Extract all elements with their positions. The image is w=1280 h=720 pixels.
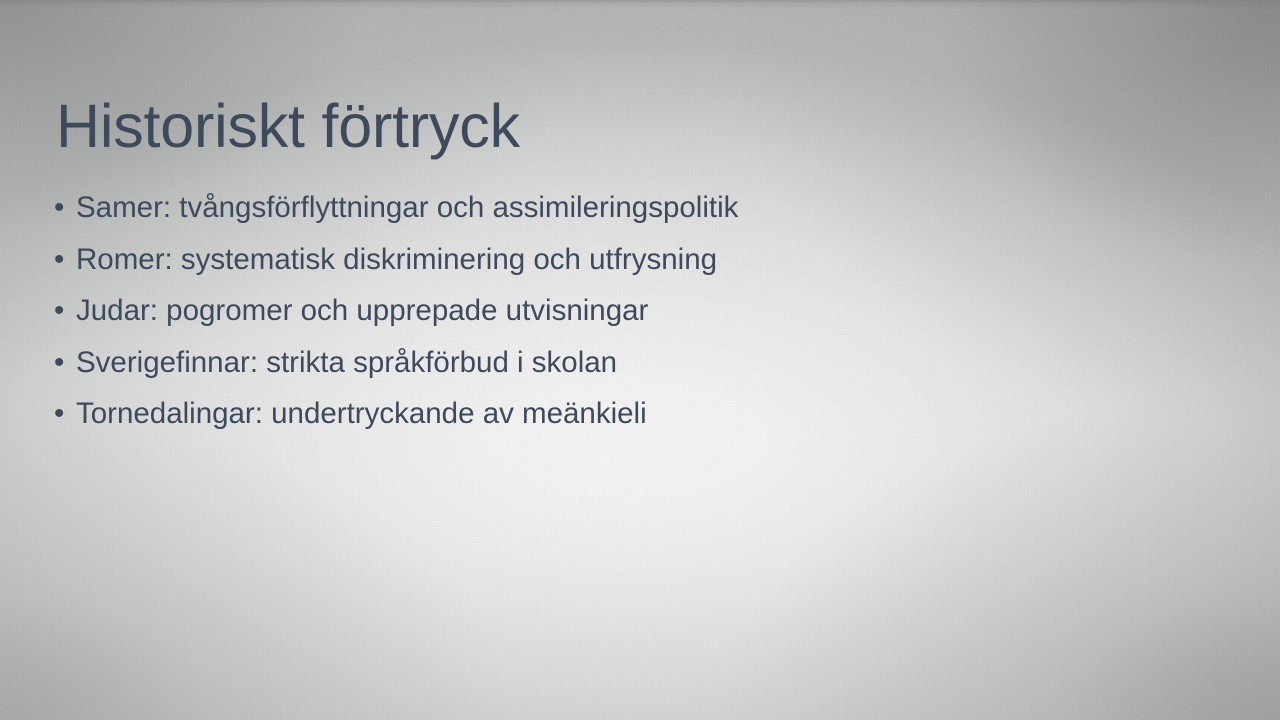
slide-content: Historiskt förtryck • Samer: tvångsförfl… (0, 0, 1280, 720)
presentation-slide: Historiskt förtryck • Samer: tvångsförfl… (0, 0, 1280, 720)
slide-title: Historiskt förtryck (56, 93, 520, 160)
list-item: • Sverigefinnar: strikta språkförbud i s… (54, 343, 738, 395)
bullet-point-icon: • (54, 188, 76, 227)
list-item: • Romer: systematisk diskriminering och … (54, 240, 738, 292)
list-item-label: Judar: pogromer och upprepade utvisninga… (76, 291, 648, 330)
list-item-label: Romer: systematisk diskriminering och ut… (76, 240, 717, 279)
bullet-point-icon: • (54, 240, 76, 279)
list-item: • Judar: pogromer och upprepade utvisnin… (54, 291, 738, 343)
bullet-point-icon: • (54, 394, 76, 433)
bullet-list: • Samer: tvångsförflyttningar och assimi… (54, 188, 738, 446)
bullet-point-icon: • (54, 343, 76, 382)
list-item: • Tornedalingar: undertryckande av meänk… (54, 394, 738, 446)
bullet-point-icon: • (54, 291, 76, 330)
list-item-label: Tornedalingar: undertryckande av meänkie… (76, 394, 647, 433)
list-item: • Samer: tvångsförflyttningar och assimi… (54, 188, 738, 240)
list-item-label: Sverigefinnar: strikta språkförbud i sko… (76, 343, 617, 382)
list-item-label: Samer: tvångsförflyttningar och assimile… (76, 188, 738, 227)
